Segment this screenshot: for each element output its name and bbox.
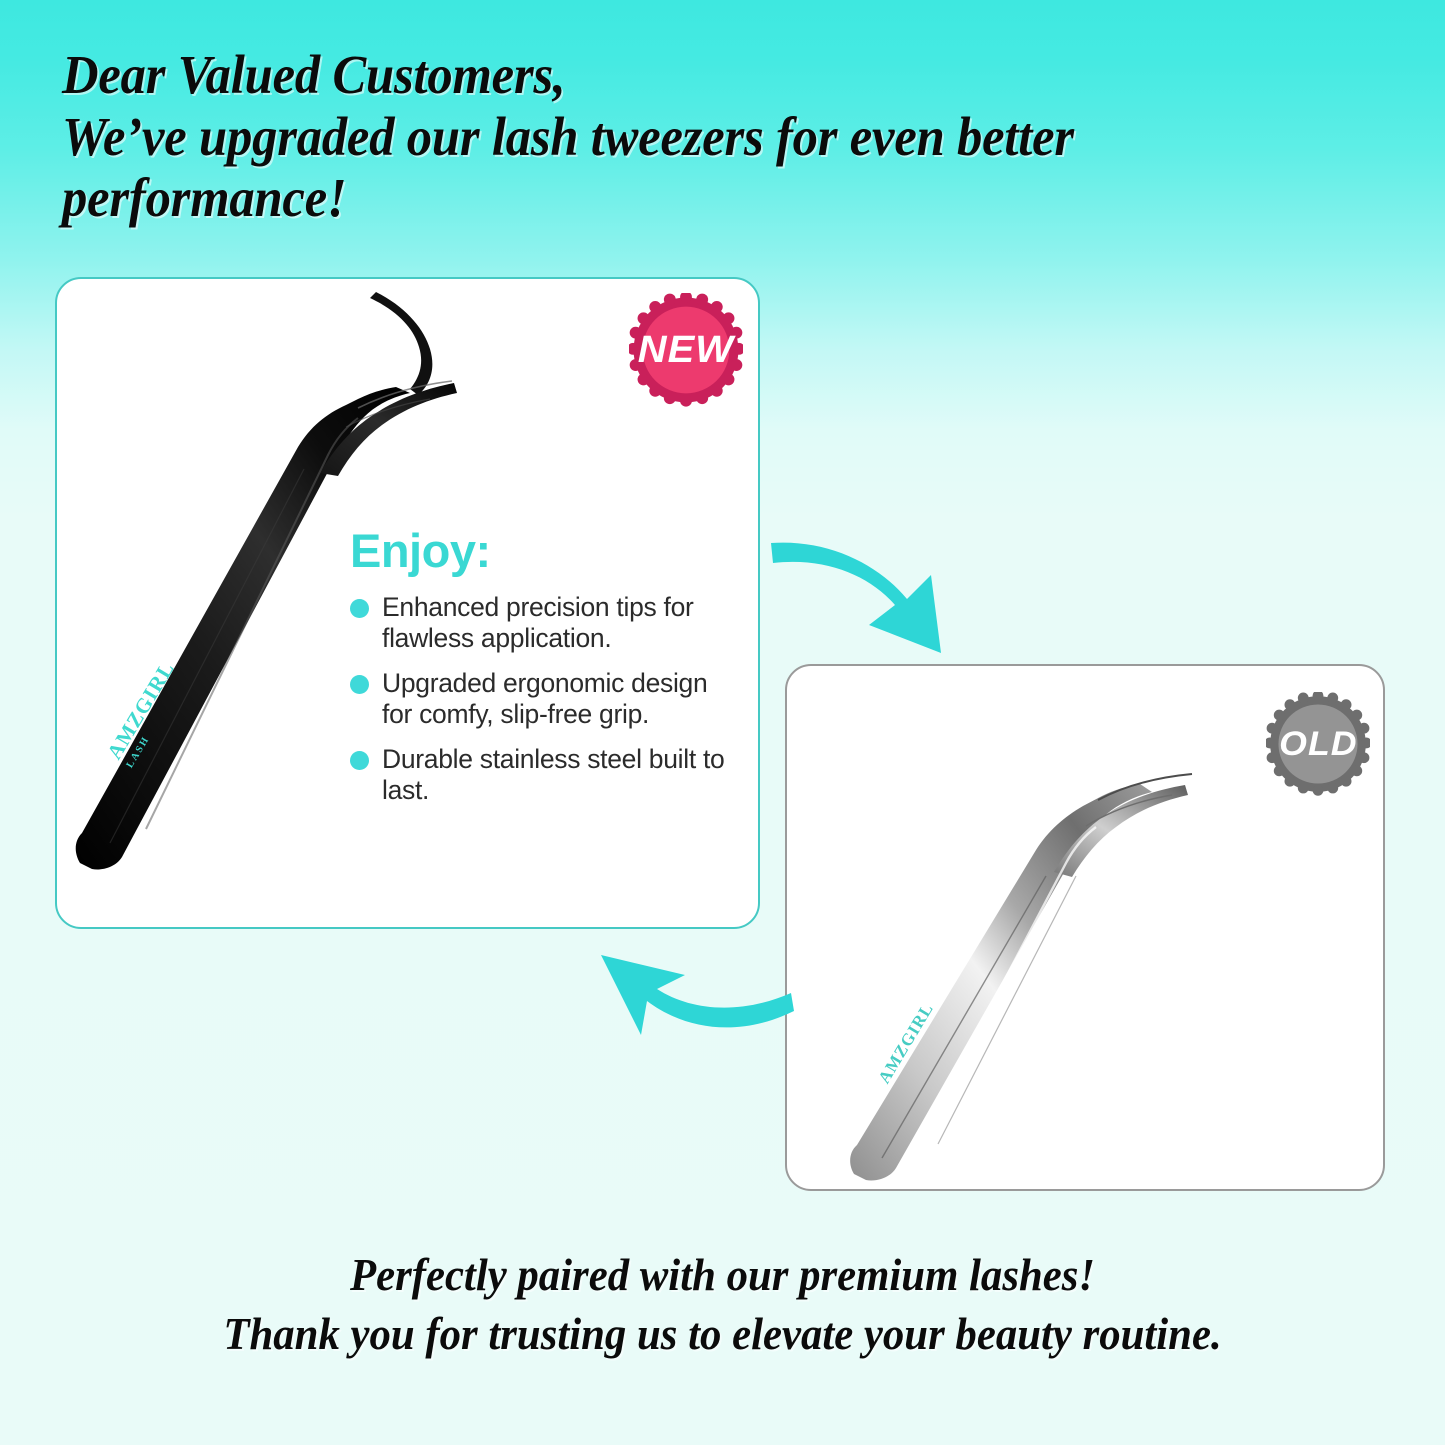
footer-tagline: Perfectly paired with our premium lashes… [0,1246,1445,1364]
curved-arrow-up-left-icon [595,945,800,1065]
benefit-text: Enhanced precision tips for flawless app… [382,592,742,654]
footer-line-1: Perfectly paired with our premium lashes… [51,1246,1395,1305]
old-badge-label: OLD [1279,725,1358,764]
benefit-text: Upgraded ergonomic design for comfy, sli… [382,668,742,730]
benefit-item: Durable stainless steel built to last. [350,744,742,806]
arrow-old-to-new [595,945,800,1065]
benefit-item: Upgraded ergonomic design for comfy, sli… [350,668,742,730]
enjoy-heading: Enjoy: [350,527,742,574]
footer-line-2: Thank you for trusting us to elevate you… [51,1305,1395,1364]
old-badge: OLD [1266,692,1370,796]
promo-poster: Dear Valued Customers, We’ve upgraded ou… [0,0,1445,1445]
arrow-new-to-old [765,525,965,655]
bullet-dot-icon [350,751,369,770]
benefit-item: Enhanced precision tips for flawless app… [350,592,742,654]
headline-line-2: We’ve upgraded our lash tweezers for eve… [62,106,1295,168]
new-badge-label: NEW [638,329,734,372]
bullet-dot-icon [350,599,369,618]
headline-line-3: performance! [62,167,1295,229]
new-badge: NEW [629,293,743,407]
page-title: Dear Valued Customers, We’ve upgraded ou… [62,44,1295,229]
bullet-dot-icon [350,675,369,694]
benefits-panel: Enjoy: Enhanced precision tips for flawl… [350,527,742,820]
headline-line-1: Dear Valued Customers, [62,44,1295,106]
benefit-text: Durable stainless steel built to last. [382,744,742,806]
curved-arrow-down-right-icon [765,525,965,655]
